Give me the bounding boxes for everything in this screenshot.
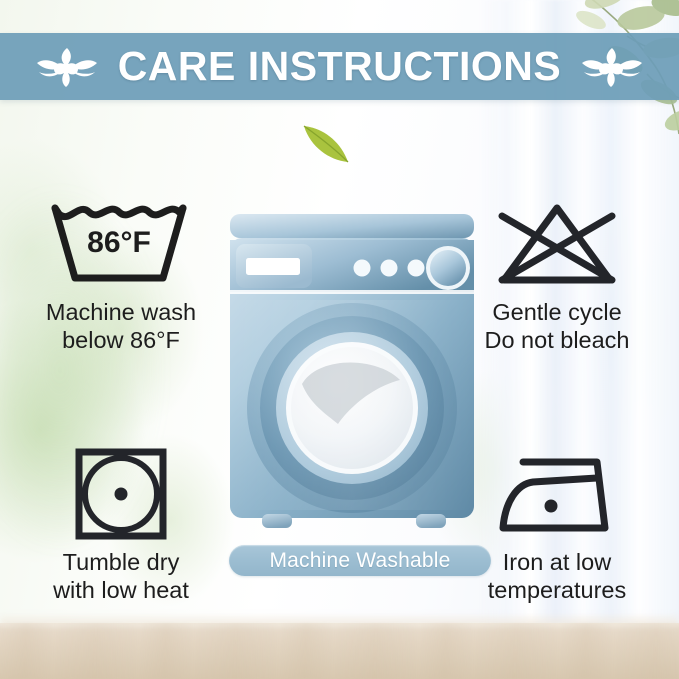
wash-temperature-value: 86°F — [87, 226, 151, 259]
indicator-light — [354, 260, 371, 277]
wash-tub-icon: 86°F — [45, 198, 197, 290]
iron-symbol — [452, 446, 662, 542]
care-symbol-iron: Iron at low temperatures — [452, 446, 662, 604]
machine-foot — [416, 514, 446, 528]
indicator-light — [408, 260, 425, 277]
iron-icon — [493, 448, 621, 540]
green-leaf-icon — [300, 122, 352, 164]
triangle-crossed-bleach-icon — [482, 198, 632, 290]
machine-washable-badge: Machine Washable — [229, 545, 491, 576]
tumble-dry-symbol — [16, 446, 226, 542]
care-symbol-caption: Gentle cycle Do not bleach — [452, 298, 662, 354]
detergent-drawer-slot — [246, 258, 300, 275]
page-title: CARE INSTRUCTIONS — [118, 46, 562, 87]
bleach-symbol — [452, 196, 662, 292]
washing-machine-illustration — [226, 208, 478, 538]
program-knob — [430, 250, 466, 286]
care-symbol-caption: Machine wash below 86°F — [16, 298, 226, 354]
badge-label: Machine Washable — [269, 550, 450, 571]
fleur-de-lis-icon — [36, 44, 98, 90]
care-symbol-do-not-bleach: Gentle cycle Do not bleach — [452, 196, 662, 354]
panel-divider — [230, 290, 474, 294]
care-symbol-tumble-dry: Tumble dry with low heat — [16, 446, 226, 604]
header-banner: CARE INSTRUCTIONS — [0, 33, 679, 100]
indicator-light — [381, 260, 398, 277]
wash-tub-symbol: 86°F — [16, 196, 226, 292]
tumble-dry-square-icon — [71, 446, 171, 542]
machine-top-lid — [230, 214, 474, 238]
care-symbol-caption: Tumble dry with low heat — [16, 548, 226, 604]
fleur-de-lis-icon — [581, 44, 643, 90]
care-symbol-machine-wash: 86°F Machine wash below 86°F — [16, 196, 226, 354]
machine-foot — [262, 514, 292, 528]
body-sheen — [230, 300, 474, 510]
wooden-table-grain — [0, 623, 679, 679]
care-instructions-card: CARE INSTRUCTIONS 86°F Machine wash belo… — [0, 0, 679, 679]
